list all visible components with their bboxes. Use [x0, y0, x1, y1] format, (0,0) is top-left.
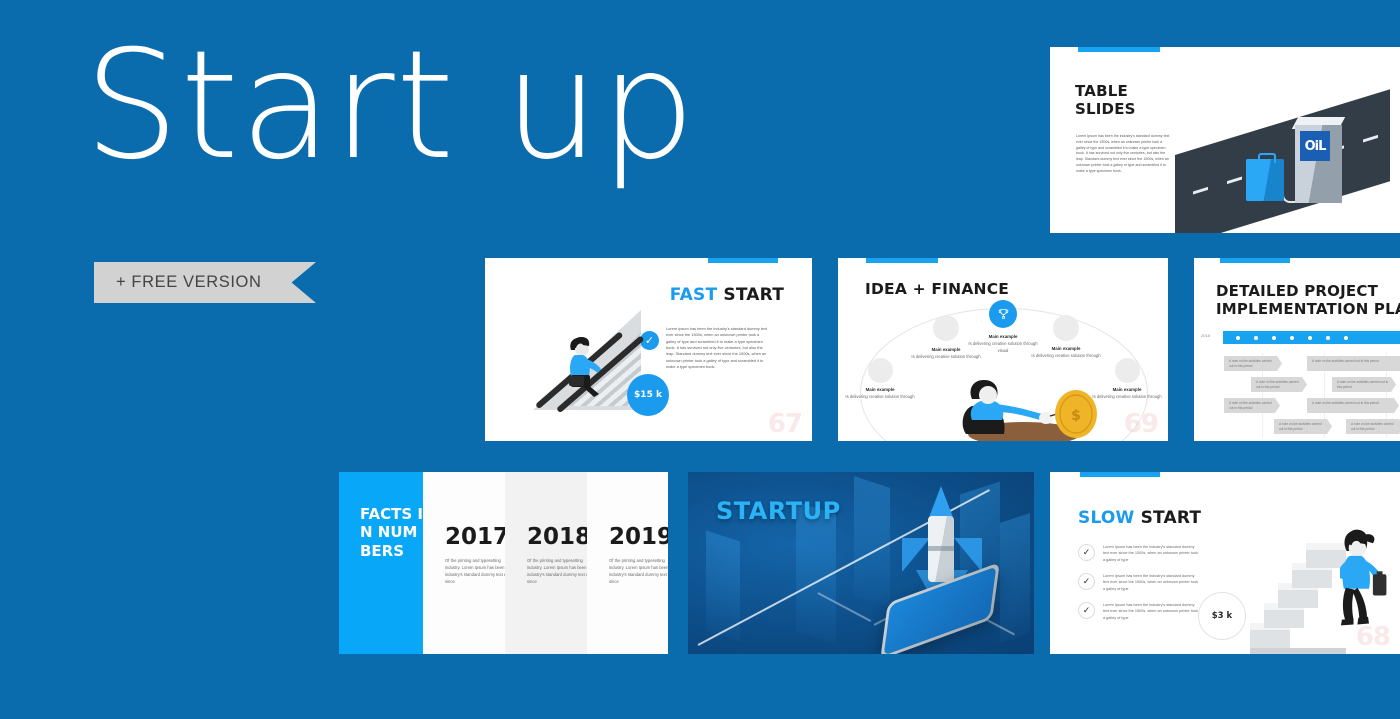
node-text: Is delivering creative solution through	[1031, 353, 1100, 358]
check-icon: ✓	[1078, 573, 1095, 590]
rocket-fin-left	[902, 538, 930, 572]
diagram-node-5[interactable]	[1115, 358, 1140, 383]
slide-number-watermark: 69	[1124, 409, 1158, 439]
diagram-node-1[interactable]	[868, 358, 893, 383]
plan-chip[interactable]: A note on the activities carried out in …	[1332, 377, 1396, 392]
table-slides-title-line1: TABLE	[1075, 82, 1128, 100]
free-version-ribbon: + FREE VERSION	[94, 262, 316, 303]
slow-start-item-text: Lorem Ipsum has been the industry's stan…	[1103, 544, 1200, 563]
fast-start-badge: $15 k	[627, 374, 669, 416]
svg-text:$: $	[1071, 408, 1081, 424]
slow-start-title-accent: SLOW	[1078, 508, 1134, 528]
facts-panel-title: FACTS IN NUMBERS	[339, 472, 423, 654]
person-pulling-coin-illustration: $	[958, 370, 1098, 441]
rocket-nose	[928, 486, 954, 520]
project-plan-title-line2: IMPLEMENTATION PLAN	[1216, 300, 1400, 318]
plan-chip[interactable]: A note on the activities carried out in …	[1307, 398, 1399, 413]
trophy-icon	[997, 308, 1010, 321]
accent-bar	[708, 258, 778, 263]
timeline-dot[interactable]	[1236, 336, 1240, 340]
timeline-dot[interactable]	[1308, 336, 1312, 340]
fast-start-title: FAST START	[670, 285, 784, 305]
diagram-node-3-highlight[interactable]	[989, 300, 1017, 328]
facts-column: 2019 Of the printing and typesetting ind…	[587, 472, 668, 654]
node-heading: Main example	[844, 386, 916, 393]
startup-title-accent: UP	[803, 497, 841, 525]
slow-start-item-text: Lorem Ipsum has been the industry's stan…	[1103, 573, 1200, 592]
facts-text: Of the printing and typesetting industry…	[609, 557, 668, 586]
person-climbing-stairs-illustration	[1340, 526, 1398, 634]
check-icon: ✓	[1078, 544, 1095, 561]
accent-bar	[1080, 472, 1160, 477]
pump-oil-label: OiL	[1300, 131, 1330, 161]
person-on-escalator-illustration	[569, 336, 615, 398]
project-plan-title: DETAILED PROJECT IMPLEMENTATION PLAN	[1216, 283, 1400, 318]
timeline-year-label: 2018	[1201, 333, 1210, 338]
briefcase-icon	[1246, 159, 1284, 201]
plan-chip[interactable]: A note on the activities carried out in …	[1224, 356, 1282, 371]
slide-card-facts-in-numbers[interactable]: FACTS IN NUMBERS 2017 Of the printing an…	[339, 472, 668, 654]
project-plan-title-line1: DETAILED PROJECT	[1216, 282, 1378, 300]
node-text: Is delivering creative solution through	[1092, 394, 1161, 399]
slow-start-title-rest: START	[1141, 508, 1202, 528]
free-version-label: + FREE VERSION	[116, 273, 261, 292]
background-slab	[1000, 513, 1030, 643]
node-heading: Main example	[1030, 345, 1102, 352]
background-slab	[854, 476, 890, 608]
plan-chip[interactable]: A note on the activities carried out in …	[1307, 356, 1400, 371]
diagram-node-label-4: Main example Is delivering creative solu…	[1030, 345, 1102, 360]
facts-year: 2019	[609, 524, 668, 550]
accent-bar	[1078, 47, 1160, 52]
accent-bar	[866, 258, 938, 263]
diagram-node-label-1: Main example Is delivering creative solu…	[844, 386, 916, 401]
slide-card-startup[interactable]: STARTUP	[688, 472, 1034, 654]
slow-start-title: SLOW START	[1078, 508, 1201, 528]
facts-year: 2018	[527, 524, 591, 550]
facts-year: 2017	[445, 524, 509, 550]
facts-column: 2018 Of the printing and typesetting ind…	[505, 472, 587, 654]
slide-card-fast-start[interactable]: FAST START ✓ Lorem Ipsum has been the in…	[485, 258, 812, 441]
facts-column: 2017 Of the printing and typesetting ind…	[423, 472, 505, 654]
page-title: Start up	[84, 28, 696, 186]
fast-start-title-rest: START	[723, 285, 784, 305]
plan-chip[interactable]: A note on the activities carried out in …	[1346, 419, 1400, 434]
timeline-bar[interactable]	[1223, 331, 1400, 344]
rocket-fin-right	[954, 538, 982, 572]
timeline-dot[interactable]	[1254, 336, 1258, 340]
diagram-node-label-5: Main example Is delivering creative solu…	[1091, 386, 1163, 401]
slide-number-watermark: 68	[1356, 622, 1390, 652]
table-slides-body: Lorem Ipsum has been the industry's stan…	[1076, 134, 1171, 175]
slide-card-idea-finance[interactable]: IDEA + FINANCE Main example Is deliverin…	[838, 258, 1168, 441]
startup-title: STARTUP	[716, 497, 841, 525]
startup-title-main: START	[716, 497, 803, 525]
plan-chip[interactable]: A note on the activities carried out in …	[1224, 398, 1280, 413]
idea-finance-title: IDEA + FINANCE	[865, 280, 1009, 298]
node-text: Is delivering creative solution through …	[968, 341, 1037, 353]
node-text: Is delivering creative solution through	[845, 394, 914, 399]
timeline-dot[interactable]	[1344, 336, 1348, 340]
fast-start-body: Lorem Ipsum has been the industry's stan…	[666, 326, 768, 370]
facts-text: Of the printing and typesetting industry…	[445, 557, 513, 586]
timeline-dot[interactable]	[1290, 336, 1294, 340]
slow-start-item-text: Lorem Ipsum has been the industry's stan…	[1103, 602, 1200, 621]
slide-number-watermark: 67	[768, 409, 802, 439]
slide-card-slow-start[interactable]: SLOW START ✓ Lorem Ipsum has been the in…	[1050, 472, 1400, 654]
plan-chip[interactable]: A note on the activities carried out in …	[1251, 377, 1307, 392]
fast-start-title-accent: FAST	[670, 285, 717, 305]
plan-chip[interactable]: A note on the activities carried out in …	[1274, 419, 1332, 434]
node-heading: Main example	[967, 333, 1039, 340]
diagram-node-4[interactable]	[1053, 315, 1079, 341]
node-heading: Main example	[1091, 386, 1163, 393]
slide-card-project-plan[interactable]: DETAILED PROJECT IMPLEMENTATION PLAN 201…	[1194, 258, 1400, 441]
rocket-ring	[928, 546, 954, 551]
node-text: Is delivering creative solution through	[911, 354, 980, 359]
diagram-node-label-3: Main example Is delivering creative solu…	[967, 333, 1039, 354]
facts-text: Of the printing and typesetting industry…	[527, 557, 595, 586]
timeline-dot[interactable]	[1272, 336, 1276, 340]
timeline-dot[interactable]	[1326, 336, 1330, 340]
slide-card-table-slides[interactable]: TABLE SLIDES Lorem Ipsum has been the in…	[1050, 47, 1400, 233]
table-slides-title-line2: SLIDES	[1075, 100, 1136, 118]
check-icon: ✓	[1078, 602, 1095, 619]
accent-bar	[1220, 258, 1290, 263]
table-slides-title: TABLE SLIDES	[1075, 83, 1136, 118]
slow-start-badge: $3 k	[1198, 592, 1246, 640]
diagram-node-2[interactable]	[933, 315, 959, 341]
